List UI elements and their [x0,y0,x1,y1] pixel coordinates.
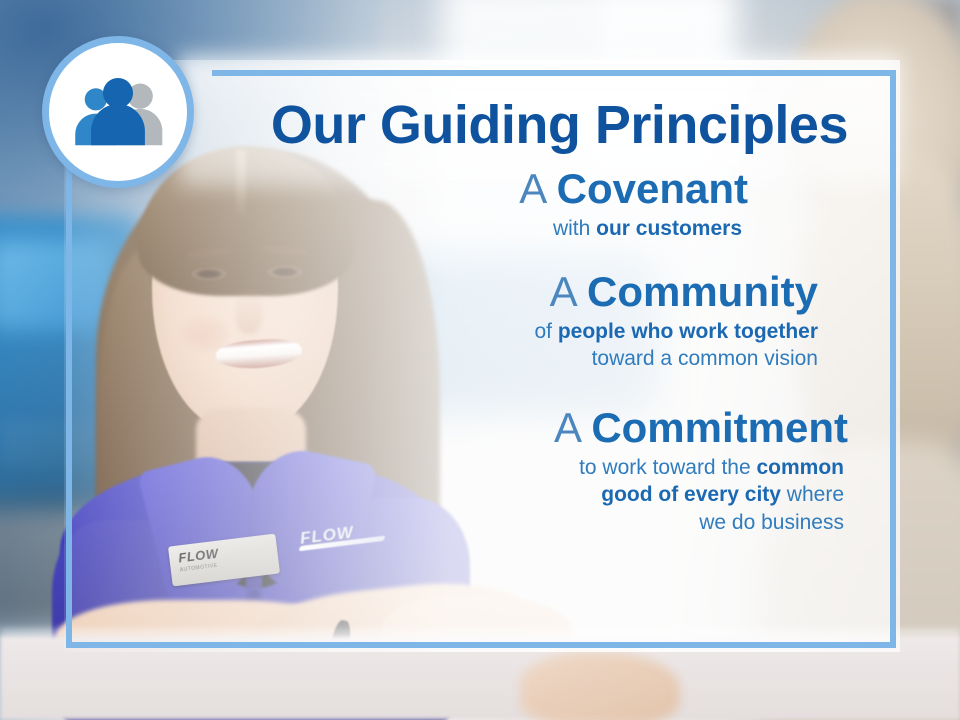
sub-span: to work toward the [579,456,756,479]
sub-line: toward a common vision [100,345,818,372]
principle-description: of people who work together toward a com… [100,318,818,373]
principle-article: A [519,165,556,212]
sub-span-bold: common [756,456,844,479]
blue-car-highlight [0,240,110,330]
principle-keyword: Covenant [557,165,748,212]
desk-surface [0,636,960,720]
page-title: Our Guiding Principles [100,98,848,152]
principle-description: with our customers [100,215,748,242]
sub-span: we do business [699,511,844,534]
sub-line: good of every city where [100,481,844,508]
principle-community: A Community of people who work together … [100,269,848,373]
principle-description: to work toward the common good of every … [100,454,848,536]
sub-span-bold: people who work together [558,320,818,343]
principle-article: A [554,404,591,451]
principle-article: A [550,268,587,315]
sub-span: of [534,320,557,343]
principle-title: A Commitment [100,405,848,450]
principle-commitment: A Commitment to work toward the common g… [100,405,848,536]
poster-canvas: FLOW FLOW AUTOMOTIVE [0,0,960,720]
sub-span-bold: our customers [596,217,742,240]
sub-span: with [553,217,596,240]
principle-title: A Community [100,269,818,314]
customer-hand-blur [520,652,680,720]
principle-keyword: Commitment [591,404,848,451]
sub-line: we do business [100,509,844,536]
sub-line: with our customers [553,217,742,240]
sub-line: to work toward the common [100,454,844,481]
sub-span: toward a common vision [592,347,818,370]
principles-content: Our Guiding Principles A Covenant with o… [100,80,890,640]
principle-keyword: Community [587,268,818,315]
principle-covenant: A Covenant with our customers [100,166,848,243]
sub-span: where [781,483,844,506]
sub-line: of people who work together [100,318,818,345]
sub-span-bold: good of every city [601,483,781,506]
principle-title: A Covenant [100,166,748,211]
